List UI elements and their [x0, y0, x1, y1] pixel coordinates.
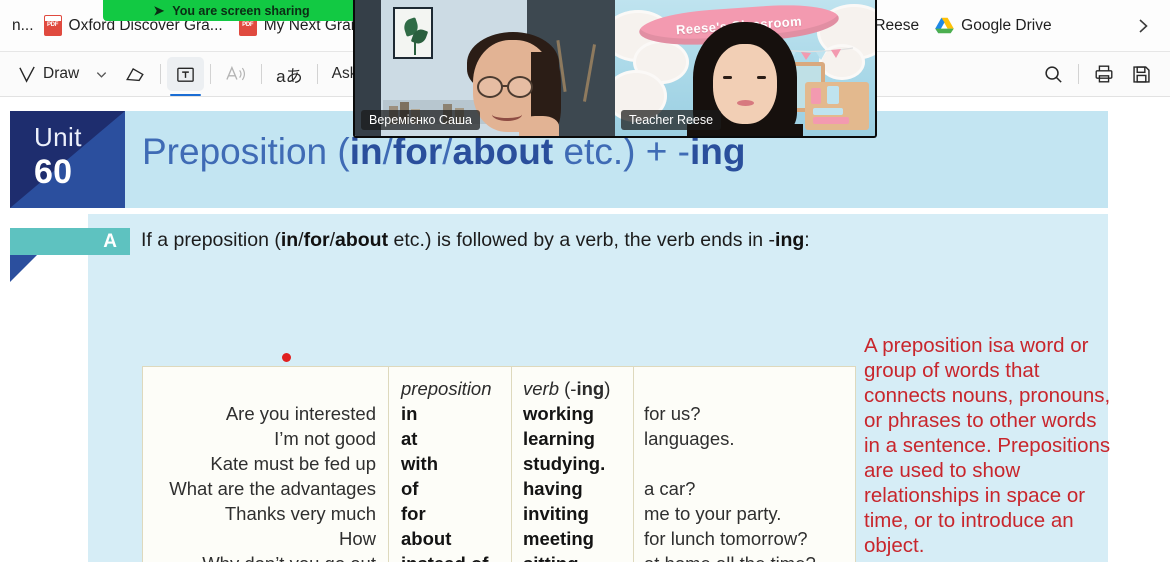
table-cell-clause: I’m not good [143, 426, 376, 451]
table-cell-preposition: instead of [401, 551, 511, 562]
table-cell-verb: meeting [523, 526, 633, 551]
table-cell-preposition: in [401, 401, 511, 426]
table-cell-rest [644, 451, 853, 476]
table-column-verb-ing: verb (-ing)workinglearningstudying.havin… [511, 367, 633, 562]
table-cell-rest: languages. [644, 426, 853, 451]
toolbar-divider [160, 64, 161, 84]
read-aloud-button[interactable] [217, 57, 255, 91]
google-drive-icon [935, 17, 954, 34]
text-box-icon [175, 64, 196, 85]
table-column-rest: for us?languages. a car?me to your party… [633, 367, 853, 562]
draw-tool-button[interactable]: Draw [10, 57, 87, 91]
table-cell-clause: Are you interested [143, 401, 376, 426]
table-cell-rest: a car? [644, 476, 853, 501]
bookmark-label: Google Drive [961, 17, 1051, 35]
rule-text-segment: about [335, 229, 388, 251]
table-cell-clause: What are the advantages [143, 476, 376, 501]
table-cell-preposition: about [401, 526, 511, 551]
screen-share-cursor-icon: ➤ [153, 4, 164, 17]
table-cell-verb: studying. [523, 451, 633, 476]
eyeglasses-left [477, 76, 503, 98]
bookmark-item-google-drive[interactable]: Google Drive [927, 13, 1059, 39]
teacher-eye-right [757, 76, 766, 79]
workbook-page: Unit 60 Preposition (in/for/about etc.) … [0, 97, 1170, 562]
table-cell-verb: having [523, 476, 633, 501]
save-button[interactable] [1123, 57, 1160, 91]
table-cell-verb: working [523, 401, 633, 426]
page-title-segment: Preposition ( [142, 131, 350, 172]
table-header-blank [644, 376, 853, 401]
draw-options-chevron-down-icon[interactable] [87, 57, 116, 91]
read-aloud-icon [225, 64, 247, 84]
draw-label: Draw [43, 65, 79, 83]
unit-word-label: Unit [34, 122, 82, 153]
wall-picture-frame-icon [393, 7, 433, 59]
toolbar-right-group [1035, 57, 1160, 91]
screen-sharing-banner: ➤ You are screen sharing [103, 0, 360, 21]
eraser-button[interactable] [116, 57, 154, 91]
participant-name-label: Веремієнко Саша [361, 110, 480, 130]
translate-label: aあ [276, 62, 302, 87]
search-icon [1043, 64, 1064, 85]
table-cell-verb: learning [523, 426, 633, 451]
table-cell-clause: Thanks very much [143, 501, 376, 526]
rule-text-segment: etc.) is followed by a verb, the verb en… [388, 229, 775, 251]
table-column-preposition: prepositioninatwithofforaboutinstead ofi… [388, 367, 511, 562]
section-letter-label: A [103, 231, 117, 253]
print-button[interactable] [1085, 57, 1123, 91]
table-cell-preposition: for [401, 501, 511, 526]
section-rule-text: If a preposition (in/for/about etc.) is … [141, 229, 841, 252]
rule-text-segment: : [804, 229, 809, 251]
teacher-lips [737, 100, 754, 106]
table-cell-rest: me to your party. [644, 501, 853, 526]
table-header-preposition: preposition [401, 376, 511, 401]
table-cell-rest: at home all the time? [644, 551, 853, 562]
search-button[interactable] [1035, 57, 1072, 91]
pdf-icon [44, 15, 62, 36]
teacher-eye-left [723, 76, 732, 79]
pen-icon [18, 65, 37, 84]
table-header-blank [143, 376, 376, 401]
table-cell-rest: for us? [644, 401, 853, 426]
bookmarks-overflow-chevron-icon[interactable] [1128, 11, 1158, 41]
text-box-tool-button[interactable] [167, 57, 204, 91]
person-hand [519, 116, 559, 136]
annotation-dot-marker [282, 353, 291, 362]
table-column-clause: Are you interestedI’m not goodKate must … [143, 367, 388, 562]
eyeglasses-right [507, 76, 533, 98]
bookmark-label: n... [12, 17, 34, 35]
toolbar-divider [261, 64, 262, 84]
bookmark-item-0[interactable]: n... [6, 13, 36, 39]
translate-button[interactable]: aあ [268, 57, 310, 91]
eraser-icon [124, 63, 146, 85]
table-cell-verb: inviting [523, 501, 633, 526]
screen-sharing-label: You are screen sharing [172, 4, 309, 18]
table-cell-clause: Why don’t you go out [143, 551, 376, 562]
toolbar-divider [1078, 64, 1079, 84]
classroom-shelf [805, 82, 869, 130]
table-header-verb: verb (-ing) [523, 376, 633, 401]
rule-text-segment: in [281, 229, 298, 251]
save-icon [1131, 64, 1152, 85]
screen: Unit 60 Preposition (in/for/about etc.) … [0, 0, 1170, 562]
toolbar-divider [210, 64, 211, 84]
video-tile-teacher[interactable]: Reese's Classroom [615, 0, 875, 136]
rule-text-segment: ing [775, 229, 804, 251]
table-cell-preposition: of [401, 476, 511, 501]
table-cell-preposition: with [401, 451, 511, 476]
table-cell-clause: Kate must be fed up [143, 451, 376, 476]
section-a-banner: A [10, 228, 130, 255]
examples-table: Are you interestedI’m not goodKate must … [142, 366, 856, 562]
red-annotation-text: A preposition isa word or group of words… [864, 333, 1116, 558]
rule-text-segment: for [304, 229, 330, 251]
rule-text-segment: If a preposition ( [141, 229, 281, 251]
teacher-face [713, 44, 777, 124]
print-icon [1093, 63, 1115, 85]
toolbar-divider [317, 64, 318, 84]
table-cell-preposition: at [401, 426, 511, 451]
table-cell-clause: How [143, 526, 376, 551]
video-call-overlay[interactable]: Веремієнко Саша Reese's Classroom [353, 0, 877, 138]
unit-badge: Unit 60 [10, 111, 125, 208]
person-smile [492, 108, 522, 121]
eyeglasses-bridge [502, 85, 509, 87]
table-cell-verb: sitting [523, 551, 633, 562]
bookmark-label: Reese [874, 17, 919, 35]
video-tile-student[interactable]: Веремієнко Саша [355, 0, 615, 136]
section-banner-fold [10, 255, 37, 282]
table-cell-rest: for lunch tomorrow? [644, 526, 853, 551]
participant-name-label: Teacher Reese [621, 110, 721, 130]
unit-number-label: 60 [34, 153, 72, 192]
